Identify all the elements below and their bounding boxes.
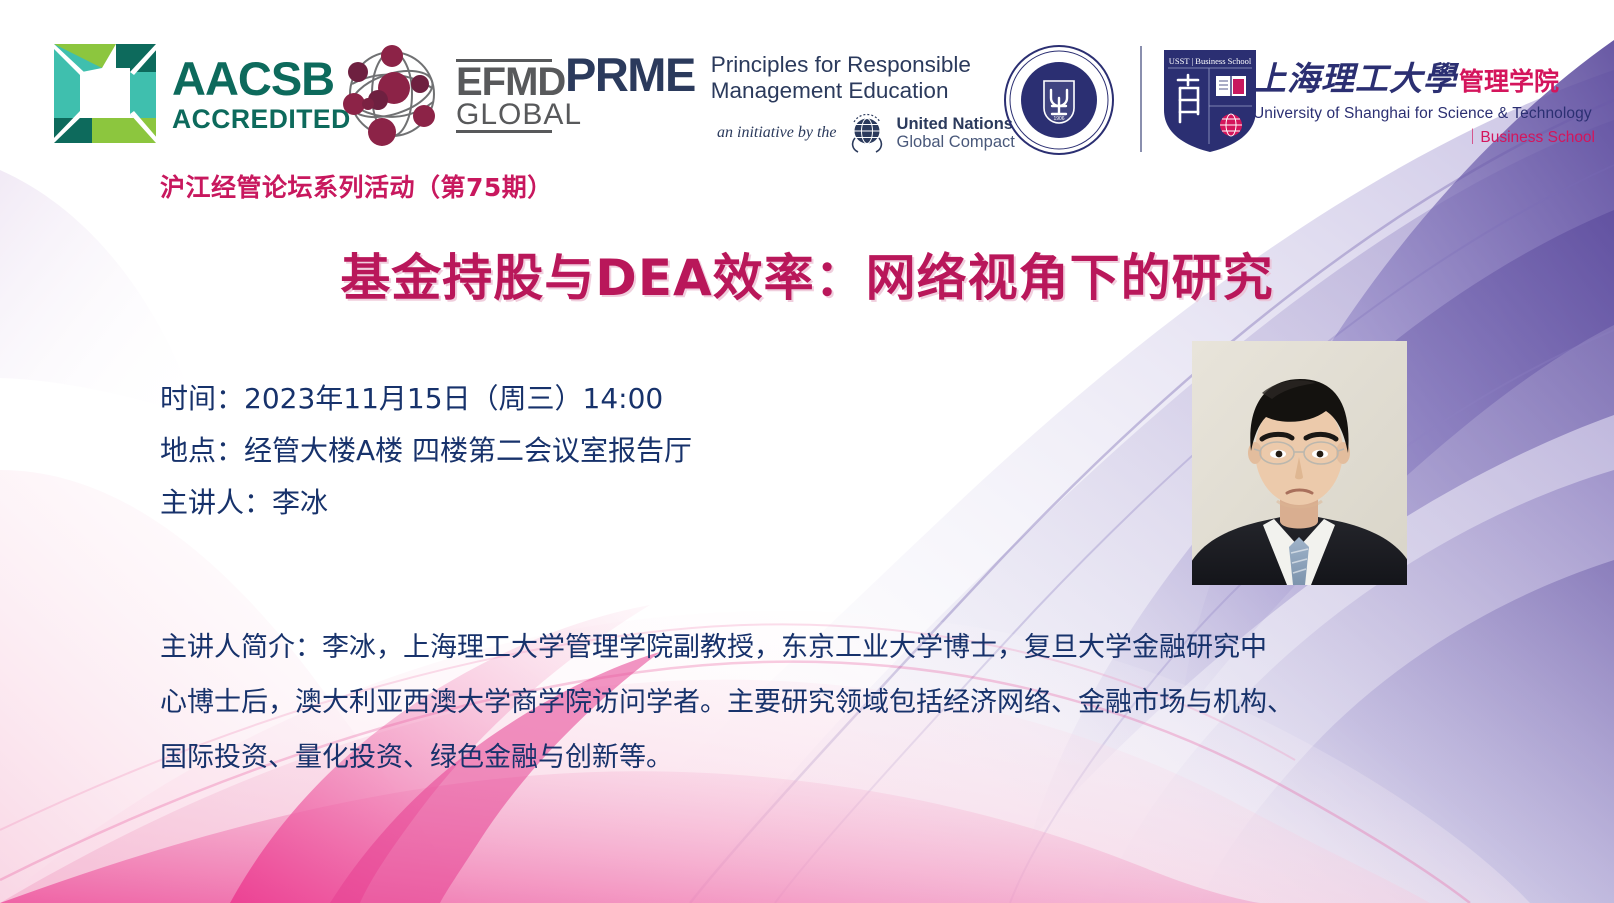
usst-business-school-shield-icon: USST | Business School — [1162, 48, 1258, 154]
logo-divider — [1140, 46, 1142, 152]
efmd-global-label: GLOBAL — [456, 100, 582, 130]
forum-series-label: 沪江经管论坛系列活动（第75期） — [160, 168, 553, 204]
usst-name-en: University of Shanghai for Science & Tec… — [1253, 105, 1603, 123]
un-line1: United Nations — [897, 115, 1015, 133]
svg-text:1906: 1906 — [1053, 116, 1064, 122]
un-global-compact-icon — [846, 112, 888, 154]
speaker-bio: 主讲人简介：李冰，上海理工大学管理学院副教授，东京工业大学博士，复旦大学金融研究… — [160, 620, 1430, 785]
aacsb-mark-icon — [52, 42, 158, 145]
bio-line-3: 国际投资、量化投资、绿色金融与创新等。 — [160, 730, 1430, 785]
un-line2: Global Compact — [897, 133, 1015, 151]
usst-name-cn: 上海理工大學 — [1253, 52, 1457, 100]
svg-text:USST | Business School: USST | Business School — [1169, 56, 1252, 66]
event-speaker: 主讲人：李冰 — [160, 477, 692, 529]
usst-school-cn: 管理学院 — [1459, 62, 1559, 98]
prme-tagline-line1: Principles for Responsible — [711, 52, 971, 78]
efmd-network-sphere-icon — [338, 40, 446, 148]
bio-line-2: 心博士后，澳大利亚西澳大学商学院访问学者。主要研究领域包括经济网络、金融市场与机… — [160, 675, 1430, 730]
prme-tagline-line2: Management Education — [711, 78, 971, 104]
event-details: 时间：2023年11月15日（周三）14:00 地点：经管大楼A楼 四楼第二会议… — [160, 373, 692, 529]
event-location: 地点：经管大楼A楼 四楼第二会议室报告厅 — [160, 425, 692, 477]
usst-seal-icon: 1906 — [1003, 44, 1115, 156]
accreditation-logo-strip: AACSB ACCREDITED — [0, 0, 1614, 165]
poster-canvas: AACSB ACCREDITED — [0, 0, 1614, 903]
speaker-photo — [1192, 341, 1407, 585]
efmd-logo: EFMD GLOBAL — [338, 40, 582, 148]
event-time: 时间：2023年11月15日（周三）14:00 — [160, 373, 692, 425]
prme-wordmark: PRME — [565, 52, 695, 97]
aacsb-logo: AACSB ACCREDITED — [52, 42, 351, 145]
bio-line-1: 主讲人简介：李冰，上海理工大学管理学院副教授，东京工业大学博士，复旦大学金融研究… — [160, 620, 1430, 675]
aacsb-accredited-label: ACCREDITED — [172, 106, 351, 133]
usst-name-block: 上海理工大學 管理学院 University of Shanghai for S… — [1253, 52, 1603, 147]
poster-title: 基金持股与DEA效率：网络视角下的研究 — [0, 238, 1614, 310]
prme-logo: PRME Principles for Responsible Manageme… — [565, 52, 1015, 154]
efmd-rule-bottom — [456, 130, 552, 133]
prme-initiative-text: an initiative by the — [717, 124, 837, 142]
aacsb-wordmark: AACSB — [172, 55, 351, 102]
efmd-wordmark: EFMD — [456, 62, 582, 102]
usst-school-en: ｜Business School — [1253, 125, 1603, 147]
